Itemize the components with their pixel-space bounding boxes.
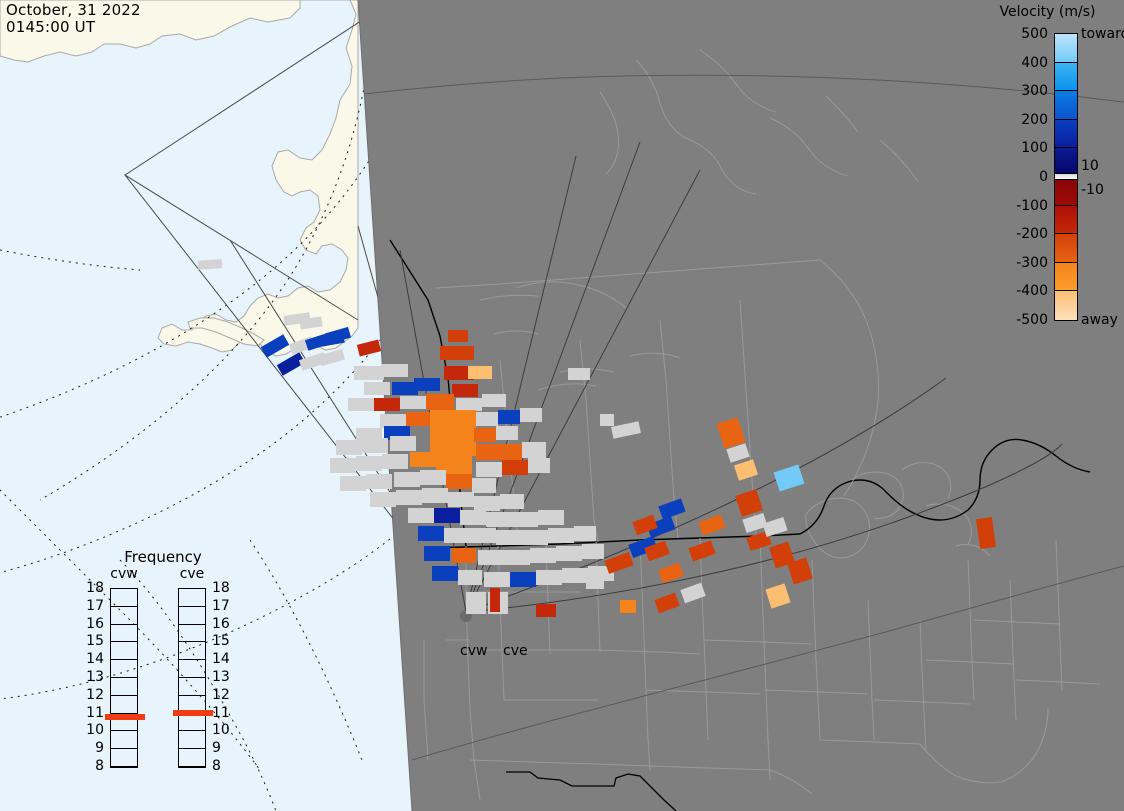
ground-scatter-cell	[400, 396, 426, 409]
velocity-cell	[406, 412, 432, 426]
velocity-cell	[440, 346, 474, 360]
ground-scatter-cell	[600, 414, 614, 426]
frequency-axis-label-16: 16	[212, 616, 230, 632]
velocity-cell	[414, 378, 440, 391]
colorbar-tick-labels: 5004003002001000-100-200-300-400-500	[975, 0, 1050, 340]
ground-scatter-cell	[536, 570, 562, 585]
site-label-cvw: cvw	[460, 643, 487, 659]
ground-scatter-cell	[330, 458, 356, 473]
frequency-axis-label-11: 11	[86, 705, 104, 721]
ground-scatter-cell	[394, 472, 420, 487]
colorbar-segment-300-to-200	[1055, 91, 1077, 120]
colorbar-segment--400-to--500	[1055, 291, 1077, 320]
frequency-axis-label-17: 17	[212, 598, 230, 614]
colorbar-segment--100-to--200	[1055, 206, 1077, 235]
ground-scatter-cell	[456, 398, 482, 411]
frequency-axis-label-12: 12	[212, 687, 230, 703]
colorbar-tick--200: -200	[1016, 226, 1048, 242]
frequency-tick-cell	[111, 607, 137, 625]
ground-scatter-cell	[476, 462, 502, 477]
ground-scatter-cell	[496, 426, 518, 440]
colorbar-tick--500: -500	[1016, 312, 1048, 328]
ground-scatter-cell	[348, 398, 374, 411]
frequency-axis-label-10: 10	[212, 722, 230, 738]
ground-scatter-cell	[370, 492, 396, 507]
frequency-scale-box-cvw[interactable]	[110, 588, 138, 768]
velocity-cell	[448, 330, 468, 342]
ground-scatter-cell	[482, 394, 506, 407]
colorbar-tick--400: -400	[1016, 283, 1048, 299]
ground-scatter-cell	[548, 528, 574, 543]
frequency-tick-cell	[179, 678, 205, 696]
frequency-axis-label-17: 17	[86, 598, 104, 614]
velocity-cell	[976, 517, 996, 549]
frequency-axis-label-11: 11	[212, 705, 230, 721]
velocity-cell	[424, 546, 450, 561]
timestamp-overlay: October, 31 2022 0145:00 UT	[6, 2, 141, 36]
velocity-cell	[430, 410, 476, 456]
ground-scatter-cell	[762, 517, 787, 537]
colorbar-tick-300: 300	[1021, 83, 1048, 99]
frequency-axis-labels-cvw: 18171615141312111098	[78, 588, 104, 768]
velocity-cell	[418, 526, 444, 541]
ground-scatter-cell	[366, 474, 392, 489]
frequency-axis-labels-cve: 18171615141312111098	[212, 588, 238, 768]
frequency-tick-cell	[111, 731, 137, 749]
velocity-cell	[432, 566, 458, 581]
velocity-cell	[698, 514, 725, 535]
ground-scatter-cell	[466, 592, 486, 614]
frequency-axis-label-14: 14	[86, 651, 104, 667]
frequency-tick-cell	[179, 714, 205, 732]
colorbar-segment-500-to-400	[1055, 34, 1077, 63]
frequency-tick-cell	[111, 696, 137, 714]
colorbar-strip[interactable]	[1054, 33, 1078, 321]
colorbar-tick--300: -300	[1016, 255, 1048, 271]
velocity-cell	[658, 563, 683, 584]
frequency-radar-name-cvw: cvw	[104, 566, 144, 582]
ground-scatter-cell	[582, 544, 604, 559]
frequency-tick-cell	[111, 678, 137, 696]
frequency-axis-label-12: 12	[86, 687, 104, 703]
velocity-cell	[357, 340, 381, 357]
frequency-tick-cell	[179, 642, 205, 660]
colorbar-tick--100: -100	[1016, 198, 1048, 214]
ground-scatter-cell	[568, 368, 590, 380]
velocity-cell	[498, 410, 520, 424]
ground-scatter-cell	[520, 408, 542, 422]
frequency-axis-label-8: 8	[212, 758, 221, 774]
velocity-cell	[261, 334, 290, 357]
frequency-axis-label-15: 15	[86, 633, 104, 649]
ground-scatter-cell	[336, 440, 362, 455]
frequency-axis-label-18: 18	[212, 580, 230, 596]
frequency-tick-cell	[111, 660, 137, 678]
ground-scatter-cell	[530, 548, 556, 563]
ground-scatter-cell	[486, 512, 512, 527]
ground-scatter-cell	[356, 456, 382, 471]
ground-scatter-cell	[458, 570, 482, 585]
ground-scatter-cell	[504, 550, 530, 565]
colorbar-label-away: away	[1081, 312, 1118, 328]
frequency-tick-cell	[179, 660, 205, 678]
frequency-tick-cell	[179, 607, 205, 625]
ground-scatter-cell	[396, 490, 422, 505]
ground-scatter-cell	[390, 436, 416, 451]
colorbar-tick-500: 500	[1021, 26, 1048, 42]
ground-scatter-cell	[500, 494, 524, 509]
frequency-marker-cvw	[105, 714, 145, 720]
velocity-cell	[688, 540, 715, 561]
frequency-axis-label-13: 13	[212, 669, 230, 685]
frequency-axis-label-10: 10	[86, 722, 104, 738]
frequency-tick-cell	[179, 589, 205, 607]
ground-scatter-cell	[496, 530, 522, 545]
ground-scatter-cell	[460, 510, 486, 525]
ground-scatter-cell	[478, 550, 504, 565]
velocity-cell	[654, 593, 679, 614]
fan-plot-canvas: October, 31 2022 0145:00 UT Velocity (m/…	[0, 0, 1124, 811]
frequency-scale-box-cve[interactable]	[178, 588, 206, 768]
ground-scatter-cell	[470, 528, 496, 543]
frequency-axis-label-9: 9	[212, 740, 221, 756]
colorbar-segment-100-to-10	[1055, 148, 1077, 174]
colorbar-tick-200: 200	[1021, 112, 1048, 128]
ground-scatter-cell	[528, 458, 550, 473]
ground-scatter-cell	[562, 568, 588, 583]
ground-scatter-cell	[340, 476, 366, 491]
velocity-cell	[620, 600, 636, 613]
colorbar-segment--200-to--300	[1055, 234, 1077, 263]
velocity-cell	[490, 588, 500, 612]
velocity-colorbar: Velocity (m/s) 5004003002001000-100-200-…	[975, 0, 1124, 340]
colorbar-segment--300-to--400	[1055, 263, 1077, 292]
ground-scatter-cell	[742, 513, 767, 533]
ground-scatter-cell	[574, 526, 596, 541]
ground-scatter-cell	[380, 414, 406, 428]
velocity-cell	[604, 552, 633, 574]
colorbar-tick-100: 100	[1021, 140, 1048, 156]
frequency-tick-cell	[179, 625, 205, 643]
frequency-axis-label-9: 9	[95, 740, 104, 756]
ground-scatter-cell	[448, 492, 474, 507]
frequency-tick-cell	[111, 625, 137, 643]
ground-scatter-cell	[408, 508, 434, 523]
frequency-tick-cell	[179, 749, 205, 767]
colorbar-label-threshold-low: -10	[1081, 182, 1104, 198]
velocity-cell	[452, 384, 478, 397]
velocity-cell	[658, 498, 685, 519]
velocity-cell	[735, 489, 763, 517]
velocity-cell	[536, 604, 556, 617]
velocity-cell	[468, 366, 492, 379]
timestamp-time: 0145:00 UT	[6, 19, 141, 36]
velocity-cell	[502, 460, 528, 475]
colorbar-tick-400: 400	[1021, 55, 1048, 71]
ground-scatter-cell	[476, 412, 498, 426]
ground-scatter-cell	[611, 421, 641, 439]
ground-scatter-cell	[484, 572, 510, 587]
frequency-tick-cell	[111, 642, 137, 660]
ground-scatter-cell	[364, 382, 390, 395]
site-label-cve: cve	[503, 643, 528, 659]
ground-scatter-cell	[586, 576, 604, 589]
velocity-cell	[717, 417, 746, 449]
frequency-marker-cve	[173, 710, 213, 716]
frequency-radar-name-cve: cve	[172, 566, 212, 582]
ground-scatter-cell	[474, 496, 500, 511]
velocity-cell	[474, 428, 496, 442]
frequency-axis-label-8: 8	[95, 758, 104, 774]
ground-scatter-cell	[522, 530, 548, 545]
velocity-cell	[510, 572, 536, 587]
ground-scatter-cell	[512, 512, 538, 527]
frequency-axis-label-14: 14	[212, 651, 230, 667]
ground-scatter-cell	[319, 349, 345, 366]
frequency-tick-cell	[111, 589, 137, 607]
velocity-cell	[765, 583, 790, 608]
velocity-cell	[452, 548, 476, 563]
velocity-cell	[446, 474, 472, 489]
frequency-axis-label-13: 13	[86, 669, 104, 685]
frequency-tick-cell	[111, 749, 137, 767]
colorbar-segment-200-to-100	[1055, 120, 1077, 149]
timestamp-date: October, 31 2022	[6, 2, 141, 19]
colorbar-segment-400-to-300	[1055, 63, 1077, 92]
frequency-tick-cell	[179, 731, 205, 749]
ground-scatter-cell	[472, 478, 496, 493]
ground-scatter-cell	[680, 583, 705, 604]
velocity-cell	[410, 452, 436, 467]
ground-scatter-cell	[538, 510, 564, 525]
velocity-cell	[426, 394, 454, 410]
velocity-cell	[476, 444, 522, 460]
colorbar-tick-0: 0	[1039, 169, 1048, 185]
ground-scatter-cell	[422, 488, 448, 503]
ground-scatter-cell	[420, 470, 446, 485]
frequency-legend: Frequency cvw 18171615141312111098 cve 1…	[88, 548, 238, 786]
frequency-axis-label-16: 16	[86, 616, 104, 632]
colorbar-label-threshold-high: 10	[1081, 158, 1099, 174]
frequency-axis-label-18: 18	[86, 580, 104, 596]
velocity-cell	[734, 459, 758, 480]
ground-scatter-cell	[354, 366, 384, 380]
ground-scatter-cell	[198, 259, 223, 270]
ground-scatter-cell	[522, 442, 546, 458]
velocity-cell	[434, 508, 460, 523]
velocity-cell	[774, 464, 805, 491]
velocity-cell	[374, 398, 400, 411]
ground-scatter-cell	[382, 454, 408, 469]
colorbar-segment--10-to--100	[1055, 180, 1077, 206]
ground-scatter-cell	[362, 438, 388, 453]
ground-scatter-cell	[444, 528, 470, 543]
frequency-legend-title: Frequency	[88, 548, 238, 566]
colorbar-label-toward: toward	[1081, 26, 1124, 42]
ground-scatter-cell	[382, 364, 408, 377]
colorbar-side-labels: toward10-10away	[1081, 0, 1124, 340]
ground-scatter-cell	[556, 546, 582, 561]
frequency-axis-label-15: 15	[212, 633, 230, 649]
